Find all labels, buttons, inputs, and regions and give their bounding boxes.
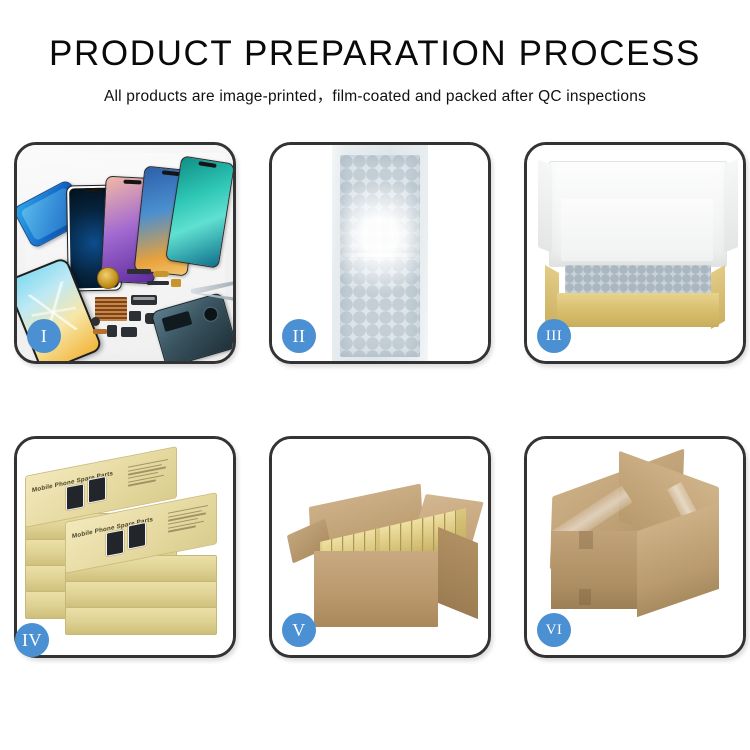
- stacked-box: [65, 607, 217, 635]
- step-badge-iv: IV: [15, 623, 49, 657]
- notch-icon: [123, 180, 141, 184]
- spare-parts-cluster: [91, 273, 233, 359]
- speaker-part-icon: [97, 267, 119, 289]
- box-spec-lines: [168, 505, 210, 535]
- step-numeral: III: [546, 328, 563, 345]
- page-header: PRODUCT PREPARATION PROCESS All products…: [0, 0, 750, 106]
- step-badge-v: V: [282, 613, 316, 647]
- gold-connector-part: [153, 271, 169, 277]
- step-panel-i[interactable]: I: [14, 142, 236, 364]
- foam-padding: [561, 199, 713, 261]
- stacked-box: [65, 581, 217, 609]
- round-part-icon: [91, 317, 100, 326]
- step-panel-iv[interactable]: Mobile Phone Spare Parts Mobile Phone Sp…: [14, 436, 236, 658]
- carton-side-face: [438, 527, 478, 619]
- step-numeral: I: [41, 326, 48, 347]
- box-image-thumb: [66, 483, 84, 510]
- kraft-box-stack: Mobile Phone Spare Parts Mobile Phone Sp…: [25, 455, 225, 645]
- bubble-wrap-pouch: [332, 145, 428, 361]
- vibrator-part: [121, 327, 137, 337]
- step-numeral: V: [292, 620, 306, 641]
- step-numeral: II: [293, 326, 306, 347]
- box-image-thumb: [106, 529, 124, 556]
- notch-icon: [198, 161, 216, 167]
- camera-module-part: [129, 311, 141, 321]
- carton-front-face: [314, 551, 438, 627]
- page-title: PRODUCT PREPARATION PROCESS: [0, 36, 750, 73]
- box-image-thumb: [88, 476, 106, 503]
- notch-icon: [84, 188, 102, 192]
- carton-crease: [579, 589, 591, 605]
- step-panel-v[interactable]: V: [269, 436, 491, 658]
- copper-strip-part: [93, 329, 107, 334]
- step-image-iv: Mobile Phone Spare Parts Mobile Phone Sp…: [17, 439, 233, 655]
- step-badge-ii: II: [282, 319, 316, 353]
- carton-crease: [579, 531, 593, 549]
- kraft-box-front: [557, 293, 719, 327]
- page-subtitle: All products are image-printed，film-coat…: [0, 84, 750, 106]
- sim-tray-part: [107, 325, 117, 337]
- flex-cable-part: [127, 269, 151, 274]
- step-badge-iii: III: [537, 319, 571, 353]
- step-numeral: IV: [22, 630, 42, 651]
- step-badge-i: I: [27, 319, 61, 353]
- step-badge-vi: VI: [537, 613, 571, 647]
- carton-front-face: [551, 531, 637, 609]
- chip-grid-part: [95, 297, 127, 321]
- power-button-flex: [147, 281, 169, 285]
- small-gold-part: [171, 279, 181, 287]
- phone-back-housing: [150, 292, 233, 361]
- step-panel-vi[interactable]: VI: [524, 436, 746, 658]
- process-steps-grid: I II III: [14, 142, 736, 658]
- connector-pins: [133, 297, 155, 300]
- step-numeral: VI: [546, 622, 563, 639]
- box-image-thumb: [128, 522, 146, 549]
- bubble-wrapped-contents: [565, 265, 711, 295]
- step-panel-ii[interactable]: II: [269, 142, 491, 364]
- box-spec-lines: [128, 459, 170, 489]
- step-panel-iii[interactable]: III: [524, 142, 746, 364]
- bubble-wrap-seam: [340, 253, 420, 257]
